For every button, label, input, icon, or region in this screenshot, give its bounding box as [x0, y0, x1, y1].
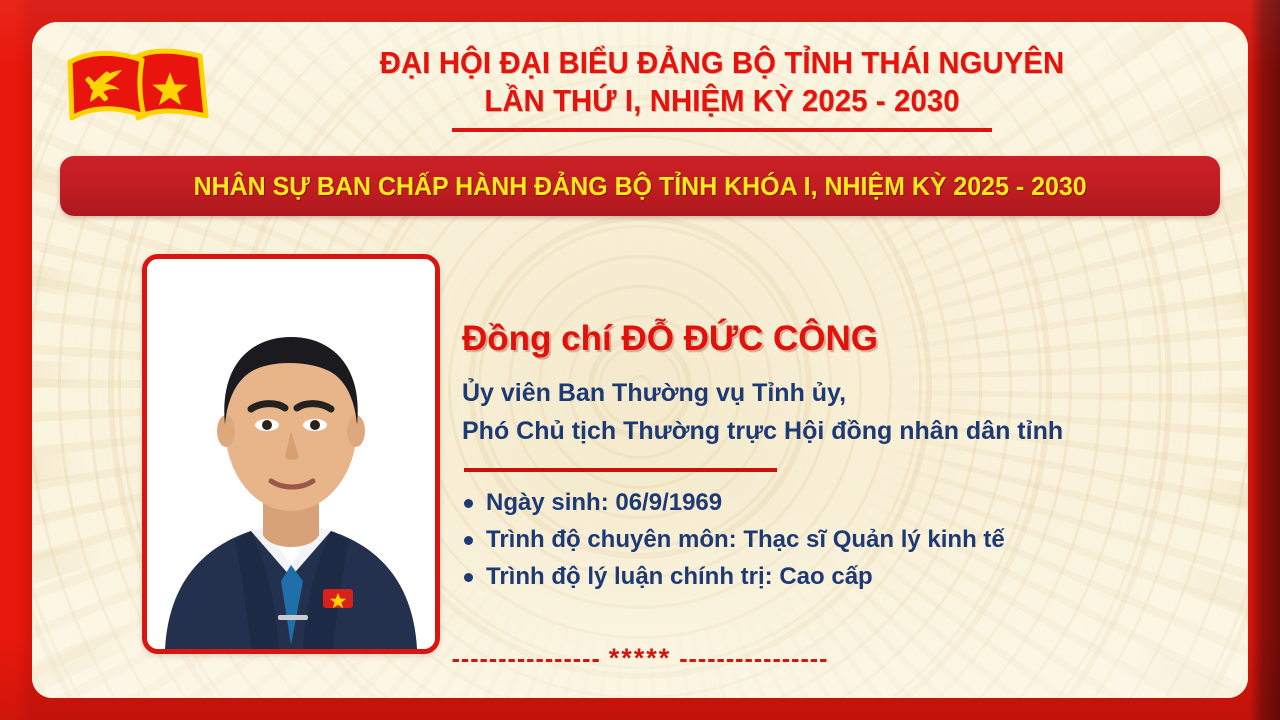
person-facts-list: Ngày sinh: 06/9/1969 Trình độ chuyên môn…	[462, 484, 1222, 595]
cream-content-panel: ĐẠI HỘI ĐẠI BIỂU ĐẢNG BỘ TỈNH THÁI NGUYÊ…	[32, 22, 1248, 698]
conference-title: ĐẠI HỘI ĐẠI BIỂU ĐẢNG BỘ TỈNH THÁI NGUYÊ…	[222, 44, 1222, 132]
person-name: Đồng chí ĐỖ ĐỨC CÔNG	[462, 318, 1222, 360]
bullet-dot-icon	[464, 536, 473, 545]
fact-professional-qualification: Trình độ chuyên môn: Thạc sĩ Quản lý kin…	[462, 521, 1222, 558]
person-info: Đồng chí ĐỖ ĐỨC CÔNG Ủy viên Ban Thường …	[462, 318, 1222, 595]
fact-birthdate: Ngày sinh: 06/9/1969	[462, 484, 1222, 521]
profile-body: Đồng chí ĐỖ ĐỨC CÔNG Ủy viên Ban Thường …	[32, 222, 1248, 698]
divider-stars: *****	[609, 643, 672, 673]
fact-political-theory-level-text: Trình độ lý luận chính trị: Cao cấp	[486, 563, 873, 590]
position-line-1: Ủy viên Ban Thường vụ Tỉnh ủy,	[462, 374, 1222, 412]
flags-emblem-icon	[60, 44, 212, 136]
person-positions: Ủy viên Ban Thường vụ Tỉnh ủy, Phó Chủ t…	[462, 374, 1222, 450]
section-banner: NHÂN SỰ BAN CHẤP HÀNH ĐẢNG BỘ TỈNH KHÓA …	[60, 156, 1220, 216]
section-banner-label: NHÂN SỰ BAN CHẤP HÀNH ĐẢNG BỘ TỈNH KHÓA …	[193, 171, 1086, 201]
slide-header: ĐẠI HỘI ĐẠI BIỂU ĐẢNG BỘ TỈNH THÁI NGUYÊ…	[32, 22, 1248, 162]
fact-professional-qualification-text: Trình độ chuyên môn: Thạc sĩ Quản lý kin…	[486, 526, 1005, 553]
title-underline	[452, 128, 992, 132]
portrait-photo	[142, 254, 440, 654]
bullet-dot-icon	[464, 573, 473, 582]
divider-dashes-right: ----------------	[679, 645, 828, 673]
fact-political-theory-level: Trình độ lý luận chính trị: Cao cấp	[462, 558, 1222, 595]
divider-dashes-left: ----------------	[452, 645, 601, 673]
position-line-2: Phó Chủ tịch Thường trực Hội đồng nhân d…	[462, 412, 1222, 450]
title-line-2: LẦN THỨ I, NHIỆM KỲ 2025 - 2030	[252, 82, 1192, 120]
info-separator-rule	[464, 468, 777, 472]
slide-root: ĐẠI HỘI ĐẠI BIỂU ĐẢNG BỘ TỈNH THÁI NGUYÊ…	[0, 0, 1280, 720]
bullet-dot-icon	[464, 499, 473, 508]
title-line-1: ĐẠI HỘI ĐẠI BIỂU ĐẢNG BỘ TỈNH THÁI NGUYÊ…	[252, 44, 1192, 82]
footer-divider: ---------------- ***** ----------------	[32, 643, 1248, 674]
fact-birthdate-text: Ngày sinh: 06/9/1969	[486, 489, 722, 516]
